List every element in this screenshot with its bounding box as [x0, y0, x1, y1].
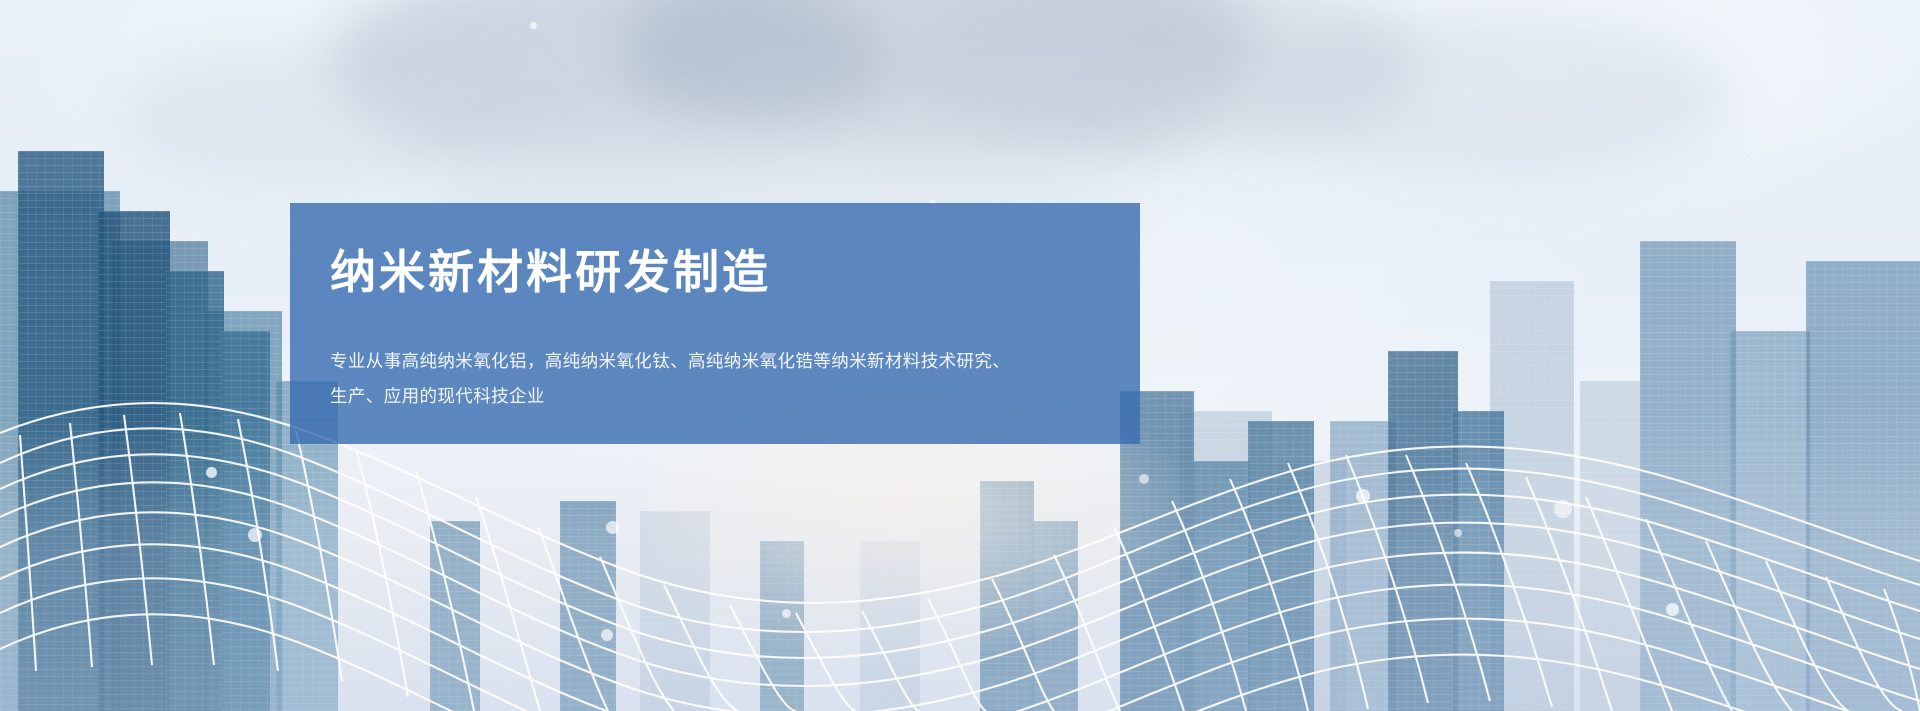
page-title: 纳米新材料研发制造: [330, 247, 1090, 298]
hero-content-panel: 纳米新材料研发制造 专业从事高纯纳米氧化铝，高纯纳米氧化钛、高纯纳米氧化锆等纳米…: [290, 203, 1140, 444]
description-line: 专业从事高纯纳米氧化铝，高纯纳米氧化钛、高纯纳米氧化锆等纳米新材料技术研究、: [330, 344, 1090, 379]
hero-banner: 纳米新材料研发制造 专业从事高纯纳米氧化铝，高纯纳米氧化钛、高纯纳米氧化锆等纳米…: [0, 0, 1920, 711]
hero-description: 专业从事高纯纳米氧化铝，高纯纳米氧化钛、高纯纳米氧化锆等纳米新材料技术研究、 生…: [330, 344, 1090, 414]
bokeh-dot: [530, 22, 537, 29]
description-line: 生产、应用的现代科技企业: [330, 379, 1090, 414]
